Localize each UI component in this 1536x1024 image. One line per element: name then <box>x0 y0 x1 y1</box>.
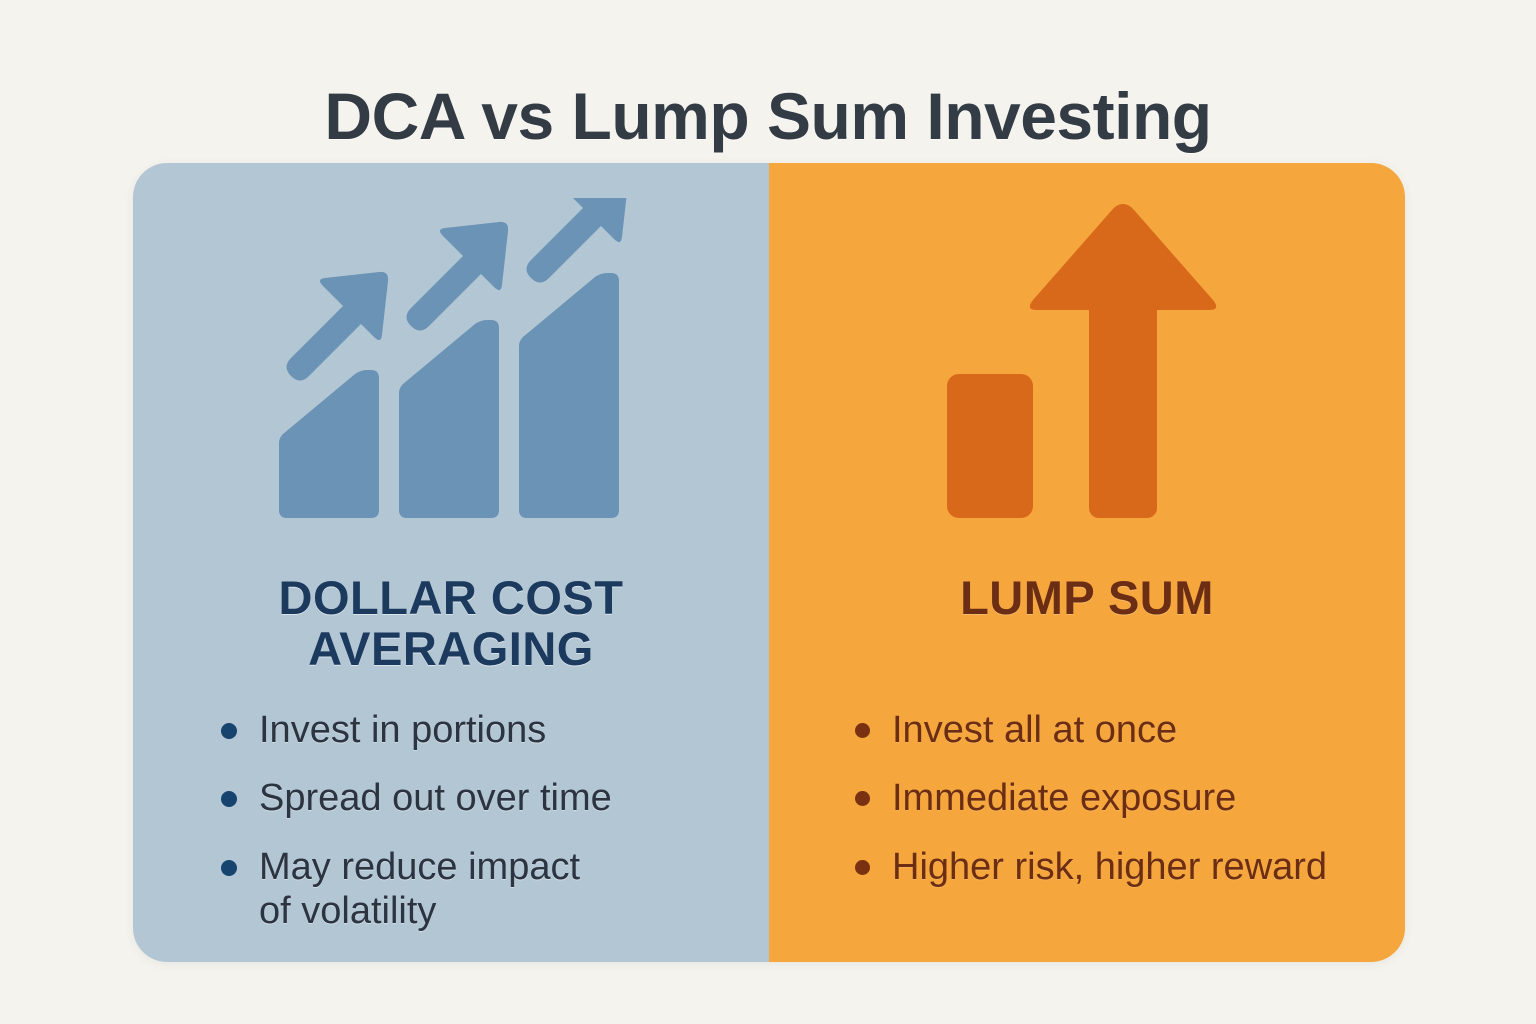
bullet-dot-icon <box>221 791 237 807</box>
panel-lump-sum: LUMP SUM Invest all at once Immediate ex… <box>769 163 1405 962</box>
bar-with-up-arrow-icon <box>937 198 1237 528</box>
right-panel-heading: LUMP SUM <box>769 573 1405 624</box>
list-item-label: Higher risk, higher reward <box>892 845 1327 889</box>
bullet-dot-icon <box>221 723 237 739</box>
list-item: May reduce impact of volatility <box>221 845 741 934</box>
list-item: Invest in portions <box>221 708 741 752</box>
list-item-label: May reduce impact of volatility <box>259 845 580 934</box>
dca-benefits-list: Invest in portions Spread out over time … <box>221 708 741 958</box>
list-item-label: Invest in portions <box>259 708 546 752</box>
list-item-label: Invest all at once <box>892 708 1177 752</box>
list-item-label: Immediate exposure <box>892 776 1236 820</box>
list-item: Spread out over time <box>221 776 741 820</box>
bullet-dot-icon <box>855 860 870 875</box>
lump-sum-traits-list: Invest all at once Immediate exposure Hi… <box>855 708 1405 913</box>
dca-icon-area <box>133 163 769 563</box>
list-item: Invest all at once <box>855 708 1405 752</box>
list-item-label: Spread out over time <box>259 776 612 820</box>
panel-dollar-cost-averaging: DOLLAR COST AVERAGING Invest in portions… <box>133 163 769 962</box>
comparison-card: DOLLAR COST AVERAGING Invest in portions… <box>133 163 1405 962</box>
bullet-dot-icon <box>855 723 870 738</box>
page-title: DCA vs Lump Sum Investing <box>0 82 1536 151</box>
left-panel-heading: DOLLAR COST AVERAGING <box>133 573 769 675</box>
bullet-dot-icon <box>855 791 870 806</box>
list-item: Immediate exposure <box>855 776 1405 820</box>
ascending-bar-chart-with-arrows-icon <box>271 198 631 528</box>
lump-sum-icon-area <box>769 163 1405 563</box>
bullet-dot-icon <box>221 860 237 876</box>
list-item: Higher risk, higher reward <box>855 845 1405 889</box>
